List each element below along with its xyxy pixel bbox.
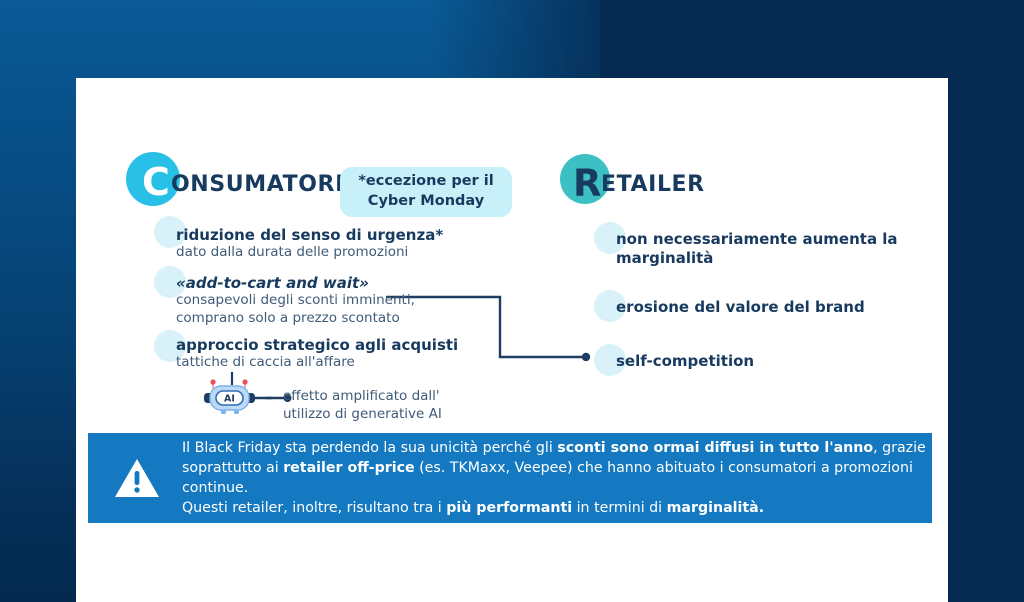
pill-line-1: *eccezione per il xyxy=(358,172,493,192)
consumer-bullet-title: «add-to-cart and wait» xyxy=(176,274,369,293)
consumer-bullet-subtitle: dato dalla durata delle promozioni xyxy=(176,244,408,262)
callout-p2-seg1: Questi retailer, inoltre, risultano tra … xyxy=(182,500,446,516)
callout-p2-bold2: marginalità. xyxy=(667,500,765,516)
callout-p2-seg2: in termini di xyxy=(572,500,667,516)
consumer-header-label: ONSUMATORE xyxy=(171,172,351,197)
consumer-bullet-subtitle: tattiche di caccia all'affare xyxy=(176,354,355,372)
retailer-header-label: ETAILER xyxy=(601,172,705,197)
callout-p1-bold1: sconti sono ormai diffusi in tutto l'ann… xyxy=(557,440,873,456)
slide-canvas: C ONSUMATORE R ETAILER *eccezione per il… xyxy=(76,78,948,602)
consumer-bullet-title: approccio strategico agli acquisti xyxy=(176,336,458,355)
ai-badge-label: AI xyxy=(224,394,235,405)
pill-line-2: Cyber Monday xyxy=(368,192,484,212)
cyber-monday-exception-pill: *eccezione per il Cyber Monday xyxy=(340,167,512,217)
callout-p1-seg1: Il Black Friday sta perdendo la sua unic… xyxy=(182,440,557,456)
warning-callout: Il Black Friday sta perdendo la sua unic… xyxy=(88,433,932,523)
ai-note-line-2: utilizzo di generative AI xyxy=(283,406,442,422)
consumer-header-initial: C xyxy=(142,160,170,204)
retailer-bullet-title: erosione del valore del brand xyxy=(616,298,865,317)
ai-note-text: effetto amplificato dall'utilizzo di gen… xyxy=(283,388,442,424)
ai-robot-icon: AI xyxy=(196,372,272,420)
retailer-header-initial: R xyxy=(573,162,602,205)
warning-triangle-icon xyxy=(114,457,160,499)
connector-endpoint-dot xyxy=(582,353,590,361)
retailer-bullet-title: non necessariamente aumenta la marginali… xyxy=(616,230,898,268)
callout-p1-bold2: retailer off-price xyxy=(283,460,414,476)
callout-paragraph-2: Questi retailer, inoltre, risultano tra … xyxy=(182,498,932,518)
retailer-bullet-title: self-competition xyxy=(616,352,754,371)
consumer-bullet-subtitle: consapevoli degli sconti imminenti, comp… xyxy=(176,292,415,327)
callout-paragraph-1: Il Black Friday sta perdendo la sua unic… xyxy=(182,438,932,498)
warning-callout-text: Il Black Friday sta perdendo la sua unic… xyxy=(182,438,932,519)
ai-note-line-1: effetto amplificato dall' xyxy=(283,388,440,404)
callout-p2-bold1: più performanti xyxy=(446,500,572,516)
consumer-bullet-title: riduzione del senso di urgenza* xyxy=(176,226,443,245)
